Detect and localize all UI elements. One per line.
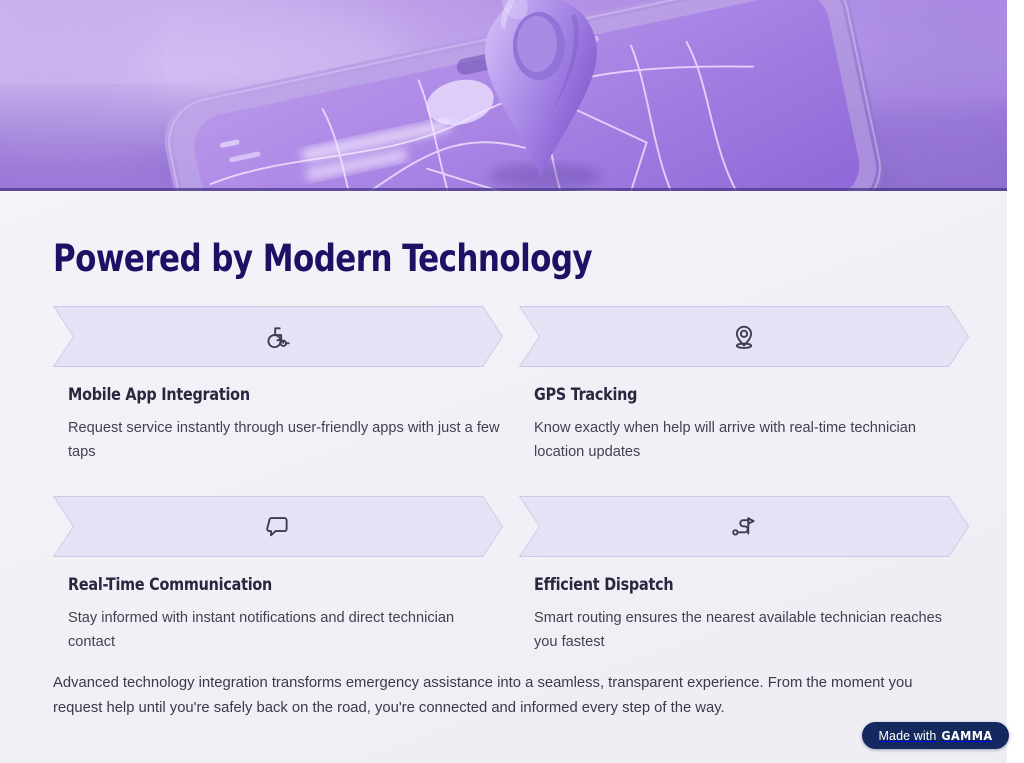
feature-banner [53, 496, 503, 557]
wheelchair-icon [263, 322, 293, 352]
page-title: Powered by Modern Technology [53, 236, 592, 282]
summary-paragraph: Advanced technology integration transfor… [53, 671, 958, 721]
speech-bubble-icon [263, 512, 293, 542]
route-flag-icon [729, 512, 759, 542]
feature-description: Know exactly when help will arrive with … [534, 416, 966, 464]
map-pin-icon [729, 322, 759, 352]
content-area: Powered by Modern Technology [0, 0, 1007, 763]
feature-title: GPS Tracking [534, 384, 943, 406]
badge-brand-label: GAMMA [941, 728, 992, 743]
feature-banner [53, 306, 503, 367]
feature-card-real-time-communication: Real-Time Communication Stay informed wi… [53, 496, 503, 654]
made-with-gamma-badge[interactable]: Made with GAMMA [862, 722, 1009, 749]
hero-bottom-edge [0, 188, 1007, 191]
feature-description: Request service instantly through user-f… [68, 416, 500, 464]
feature-card-gps-tracking: GPS Tracking Know exactly when help will… [519, 306, 969, 464]
row-spacer [53, 464, 969, 496]
feature-description: Stay informed with instant notifications… [68, 606, 500, 654]
feature-title: Real-Time Communication [68, 574, 477, 596]
feature-row-2: Real-Time Communication Stay informed wi… [53, 496, 969, 654]
badge-prefix-label: Made with [879, 729, 937, 743]
feature-title: Mobile App Integration [68, 384, 477, 406]
feature-title: Efficient Dispatch [534, 574, 943, 596]
feature-grid: Mobile App Integration Request service i… [53, 306, 969, 654]
hero-illustration [0, 0, 1007, 191]
page-root: Powered by Modern Technology [0, 0, 1024, 763]
feature-banner [519, 496, 969, 557]
feature-row-1: Mobile App Integration Request service i… [53, 306, 969, 464]
feature-card-efficient-dispatch: Efficient Dispatch Smart routing ensures… [519, 496, 969, 654]
feature-banner [519, 306, 969, 367]
feature-description: Smart routing ensures the nearest availa… [534, 606, 966, 654]
hero-image [0, 0, 1007, 191]
feature-card-mobile-app-integration: Mobile App Integration Request service i… [53, 306, 503, 464]
